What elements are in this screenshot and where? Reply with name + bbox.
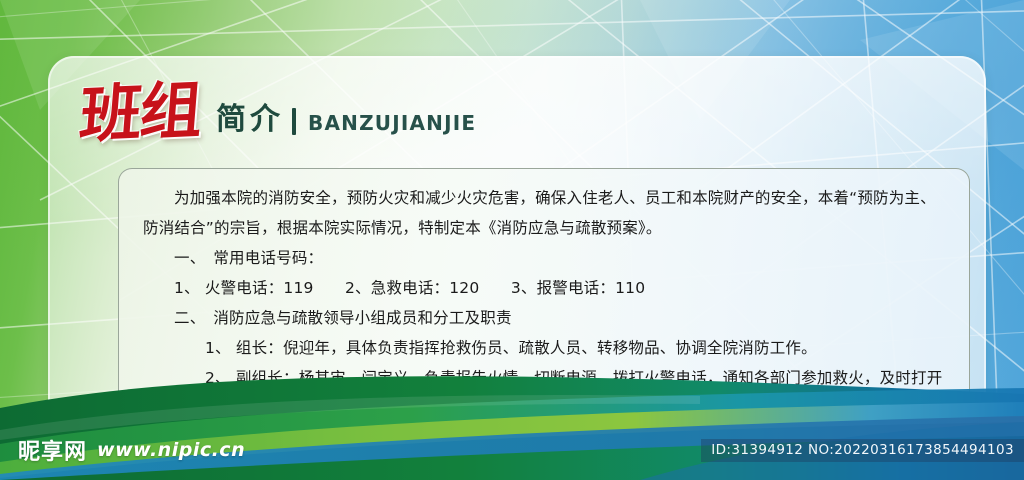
page-title-calligraphy: 班组 xyxy=(75,79,204,146)
paragraph-leader: 1、 组长：倪迎年，具体负责指挥抢救伤员、疏散人员、转移物品、协调全院消防工作。 xyxy=(143,333,945,363)
paragraph-section-1: 一、 常用电话号码： xyxy=(143,243,945,273)
page-subtitle-en: BANZUJIANJIE xyxy=(308,111,476,135)
watermark-brand: 昵享网 xyxy=(18,434,87,466)
poster-canvas: 班组 简介 BANZUJIANJIE 为加强本院的消防安全，预防火灾和减少火灾危… xyxy=(0,0,1024,480)
paragraph-section-2: 二、 消防应急与疏散领导小组成员和分工及职责 xyxy=(143,303,945,333)
image-id-strip: ID:31394912 NO:20220316173854494103 xyxy=(701,439,1024,462)
page-subtitle-cn: 简介 xyxy=(216,94,284,138)
paragraph-intro: 为加强本院的消防安全，预防火灾和减少火灾危害，确保入住老人、员工和本院财产的安全… xyxy=(143,183,945,243)
paragraph-phones: 1、 火警电话：119 2、急救电话：120 3、报警电话：110 xyxy=(143,273,945,303)
watermark: 昵享网 www.nipic.cn xyxy=(18,434,245,466)
title-divider xyxy=(292,108,296,135)
poster-header: 班组 简介 BANZUJIANJIE xyxy=(78,70,476,144)
watermark-url: www.nipic.cn xyxy=(97,439,245,461)
